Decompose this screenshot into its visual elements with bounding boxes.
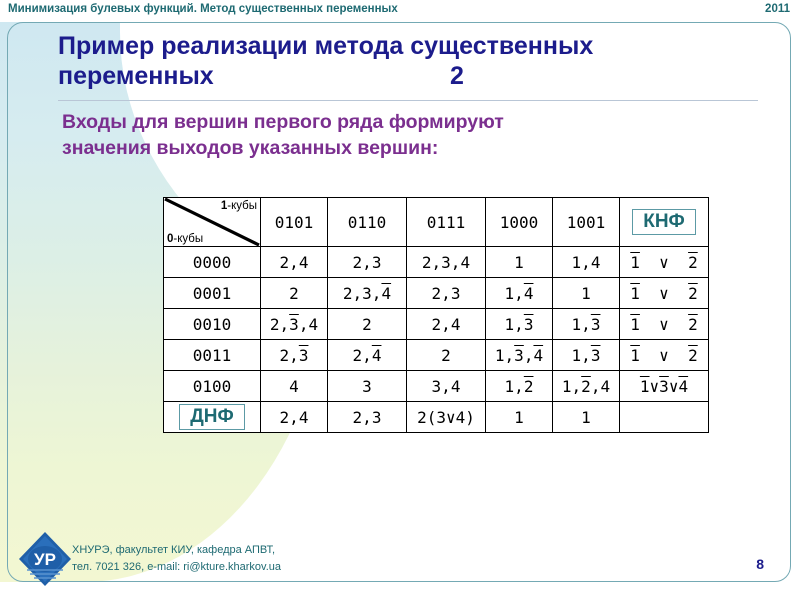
corner-label-0cubes: 0-кубы — [167, 233, 203, 245]
header-title: Минимизация булевых функций. Метод сущес… — [8, 3, 398, 15]
cell-0011-cnf: 1 ∨ 2 — [620, 340, 709, 371]
cell-0100-0101: 4 — [261, 371, 328, 402]
row-label-0100: 0100 — [164, 371, 261, 402]
cell-dnf-1001: 1 — [553, 402, 620, 433]
cube-table: 1-кубы 0-кубы 0101 0110 0111 1000 1001 К… — [163, 197, 709, 433]
table-row: 0100 4 3 3,4 1,2 1,2,4 1∨3∨4 — [164, 371, 709, 402]
cell-0010-1001: 1,3 — [553, 309, 620, 340]
page-number: 8 — [756, 556, 764, 572]
title-divider — [58, 100, 758, 101]
column-header-1001: 1001 — [553, 198, 620, 247]
cell-dnf-0110: 2,3 — [328, 402, 407, 433]
cell-0001-0101: 2 — [261, 278, 328, 309]
cnf-header-cell: КНФ — [620, 198, 709, 247]
cell-0000-1001: 1,4 — [553, 247, 620, 278]
cell-dnf-0111: 2(3∨4) — [407, 402, 486, 433]
cell-0000-cnf: 1 ∨ 2 — [620, 247, 709, 278]
column-header-0101: 0101 — [261, 198, 328, 247]
dnf-label: ДНФ — [179, 404, 244, 431]
svg-text:УР: УР — [34, 550, 56, 569]
column-header-0110: 0110 — [328, 198, 407, 247]
subtitle-line2: значения выходов указанных вершин: — [62, 136, 752, 162]
slide-canvas: Минимизация булевых функций. Метод сущес… — [0, 0, 800, 600]
row-label-0001: 0001 — [164, 278, 261, 309]
cell-0100-1001: 1,2,4 — [553, 371, 620, 402]
cell-0010-0101: 2,3,4 — [261, 309, 328, 340]
subtitle-line1: Входы для вершин первого ряда формируют — [62, 110, 752, 136]
cell-0010-1000: 1,3 — [486, 309, 553, 340]
corner-digit-0: 0 — [167, 233, 173, 245]
cell-0000-0101: 2,4 — [261, 247, 328, 278]
cell-0001-1001: 1 — [553, 278, 620, 309]
cube-table-wrapper: 1-кубы 0-кубы 0101 0110 0111 1000 1001 К… — [163, 197, 709, 433]
cell-0100-0111: 3,4 — [407, 371, 486, 402]
column-header-0111: 0111 — [407, 198, 486, 247]
cell-0010-cnf: 1 ∨ 2 — [620, 309, 709, 340]
cell-0100-0110: 3 — [328, 371, 407, 402]
page-title-number: 2 — [450, 62, 464, 92]
slide-header-bar: Минимизация булевых функций. Метод сущес… — [0, 0, 800, 22]
corner-diagonal-cell: 1-кубы 0-кубы — [164, 198, 261, 247]
page-title-line2: переменных — [58, 62, 214, 90]
footer-contact: ХНУРЭ, факультет КИУ, кафедра АПВТ, тел.… — [72, 542, 281, 576]
cell-0011-1001: 1,3 — [553, 340, 620, 371]
table-header-row: 1-кубы 0-кубы 0101 0110 0111 1000 1001 К… — [164, 198, 709, 247]
cell-0000-1000: 1 — [486, 247, 553, 278]
row-label-0011: 0011 — [164, 340, 261, 371]
subtitle: Входы для вершин первого ряда формируют … — [62, 110, 752, 161]
cell-0000-0111: 2,3,4 — [407, 247, 486, 278]
cell-0100-1000: 1,2 — [486, 371, 553, 402]
university-logo-icon: УР — [17, 530, 73, 588]
cell-0001-0110: 2,3,4 — [328, 278, 407, 309]
dnf-header-cell: ДНФ — [164, 402, 261, 433]
cell-0011-1000: 1,3,4 — [486, 340, 553, 371]
cell-0001-1000: 1,4 — [486, 278, 553, 309]
cell-dnf-cnf — [620, 402, 709, 433]
footer-line1: ХНУРЭ, факультет КИУ, кафедра АПВТ, — [72, 542, 281, 559]
page-title-line2-wrap: переменных 2 — [58, 62, 758, 92]
corner-label-1cubes: 1-кубы — [221, 200, 257, 212]
cell-0011-0101: 2,3 — [261, 340, 328, 371]
cell-dnf-1000: 1 — [486, 402, 553, 433]
header-year: 2011 — [765, 3, 790, 15]
cell-0000-0110: 2,3 — [328, 247, 407, 278]
page-title-line1: Пример реализации метода существенных — [58, 32, 593, 60]
table-dnf-row: ДНФ 2,4 2,3 2(3∨4) 1 1 — [164, 402, 709, 433]
cnf-label: КНФ — [632, 209, 696, 236]
cell-0010-0111: 2,4 — [407, 309, 486, 340]
cell-0011-0111: 2 — [407, 340, 486, 371]
table-row: 0010 2,3,4 2 2,4 1,3 1,3 1 ∨ 2 — [164, 309, 709, 340]
row-label-0000: 0000 — [164, 247, 261, 278]
cell-0100-cnf: 1∨3∨4 — [620, 371, 709, 402]
column-header-1000: 1000 — [486, 198, 553, 247]
cell-0001-0111: 2,3 — [407, 278, 486, 309]
cell-0010-0110: 2 — [328, 309, 407, 340]
table-row: 0001 2 2,3,4 2,3 1,4 1 1 ∨ 2 — [164, 278, 709, 309]
cell-0011-0110: 2,4 — [328, 340, 407, 371]
table-row: 0011 2,3 2,4 2 1,3,4 1,3 1 ∨ 2 — [164, 340, 709, 371]
footer-line2: тел. 7021 326, e-mail: ri@kture.kharkov.… — [72, 559, 281, 576]
table-row: 0000 2,4 2,3 2,3,4 1 1,4 1 ∨ 2 — [164, 247, 709, 278]
page-title: Пример реализации метода существенных пе… — [58, 32, 758, 91]
corner-digit-1: 1 — [221, 200, 227, 212]
row-label-0010: 0010 — [164, 309, 261, 340]
cell-dnf-0101: 2,4 — [261, 402, 328, 433]
cell-0001-cnf: 1 ∨ 2 — [620, 278, 709, 309]
